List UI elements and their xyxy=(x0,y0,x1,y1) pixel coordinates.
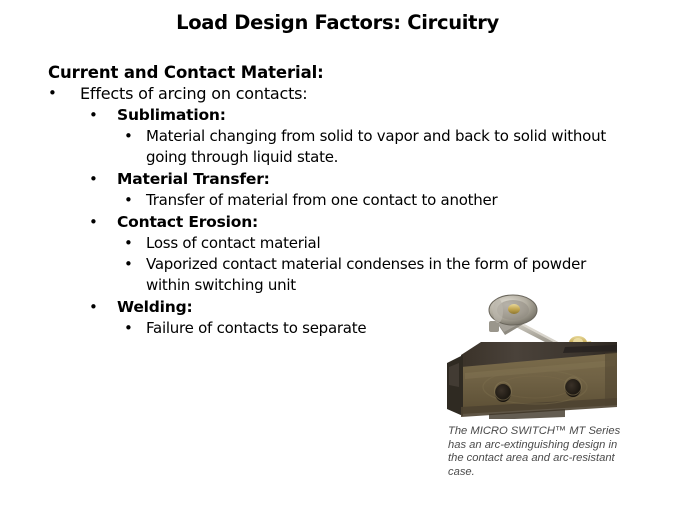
outline-level3-item: • Material changing from solid to vapor … xyxy=(122,126,626,168)
figure-caption: The MICRO SWITCH™ MT Series has an arc-e… xyxy=(448,425,628,479)
outline-level3-label: Loss of contact material xyxy=(146,234,320,252)
bullet-icon: • xyxy=(124,318,133,339)
outline-level2-label: Sublimation: xyxy=(117,106,226,124)
bullet-icon: • xyxy=(48,83,57,104)
bullet-icon: • xyxy=(89,211,98,233)
outline-level3-item: • Loss of contact material xyxy=(122,233,626,254)
outline-level1-item: • Effects of arcing on contacts: xyxy=(48,83,675,104)
bullet-icon: • xyxy=(124,190,133,211)
outline-level2-item: • Contact Erosion: xyxy=(87,211,675,233)
bullet-icon: • xyxy=(89,296,98,318)
roller-wheel xyxy=(489,295,537,325)
micro-switch-photo xyxy=(445,283,625,419)
mounting-hole xyxy=(565,379,581,397)
outline-level2-label: Welding: xyxy=(117,298,193,316)
bullet-icon: • xyxy=(124,233,133,254)
outline-level2-label: Contact Erosion: xyxy=(117,213,258,231)
page-title: Load Design Factors: Circuitry xyxy=(0,11,675,34)
bullet-icon: • xyxy=(89,104,98,126)
bullet-icon: • xyxy=(89,168,98,190)
outline-level2-label: Material Transfer: xyxy=(117,170,270,188)
mounting-hole xyxy=(495,384,511,402)
outline-level1-label: Effects of arcing on contacts: xyxy=(80,84,308,103)
outline-heading: Current and Contact Material: xyxy=(48,62,675,83)
switch-body xyxy=(447,342,617,419)
figure: The MICRO SWITCH™ MT Series has an arc-e… xyxy=(445,283,630,483)
outline-level3-item: • Transfer of material from one contact … xyxy=(122,190,626,211)
outline-level3-label: Transfer of material from one contact to… xyxy=(146,191,497,209)
outline-level2-item: • Sublimation: xyxy=(87,104,675,126)
bullet-icon: • xyxy=(124,254,133,275)
outline-level3-label: Failure of contacts to separate xyxy=(146,319,366,337)
outline-level2-item: • Material Transfer: xyxy=(87,168,675,190)
bullet-icon: • xyxy=(124,126,133,147)
outline-level3-label: Material changing from solid to vapor an… xyxy=(146,127,606,166)
